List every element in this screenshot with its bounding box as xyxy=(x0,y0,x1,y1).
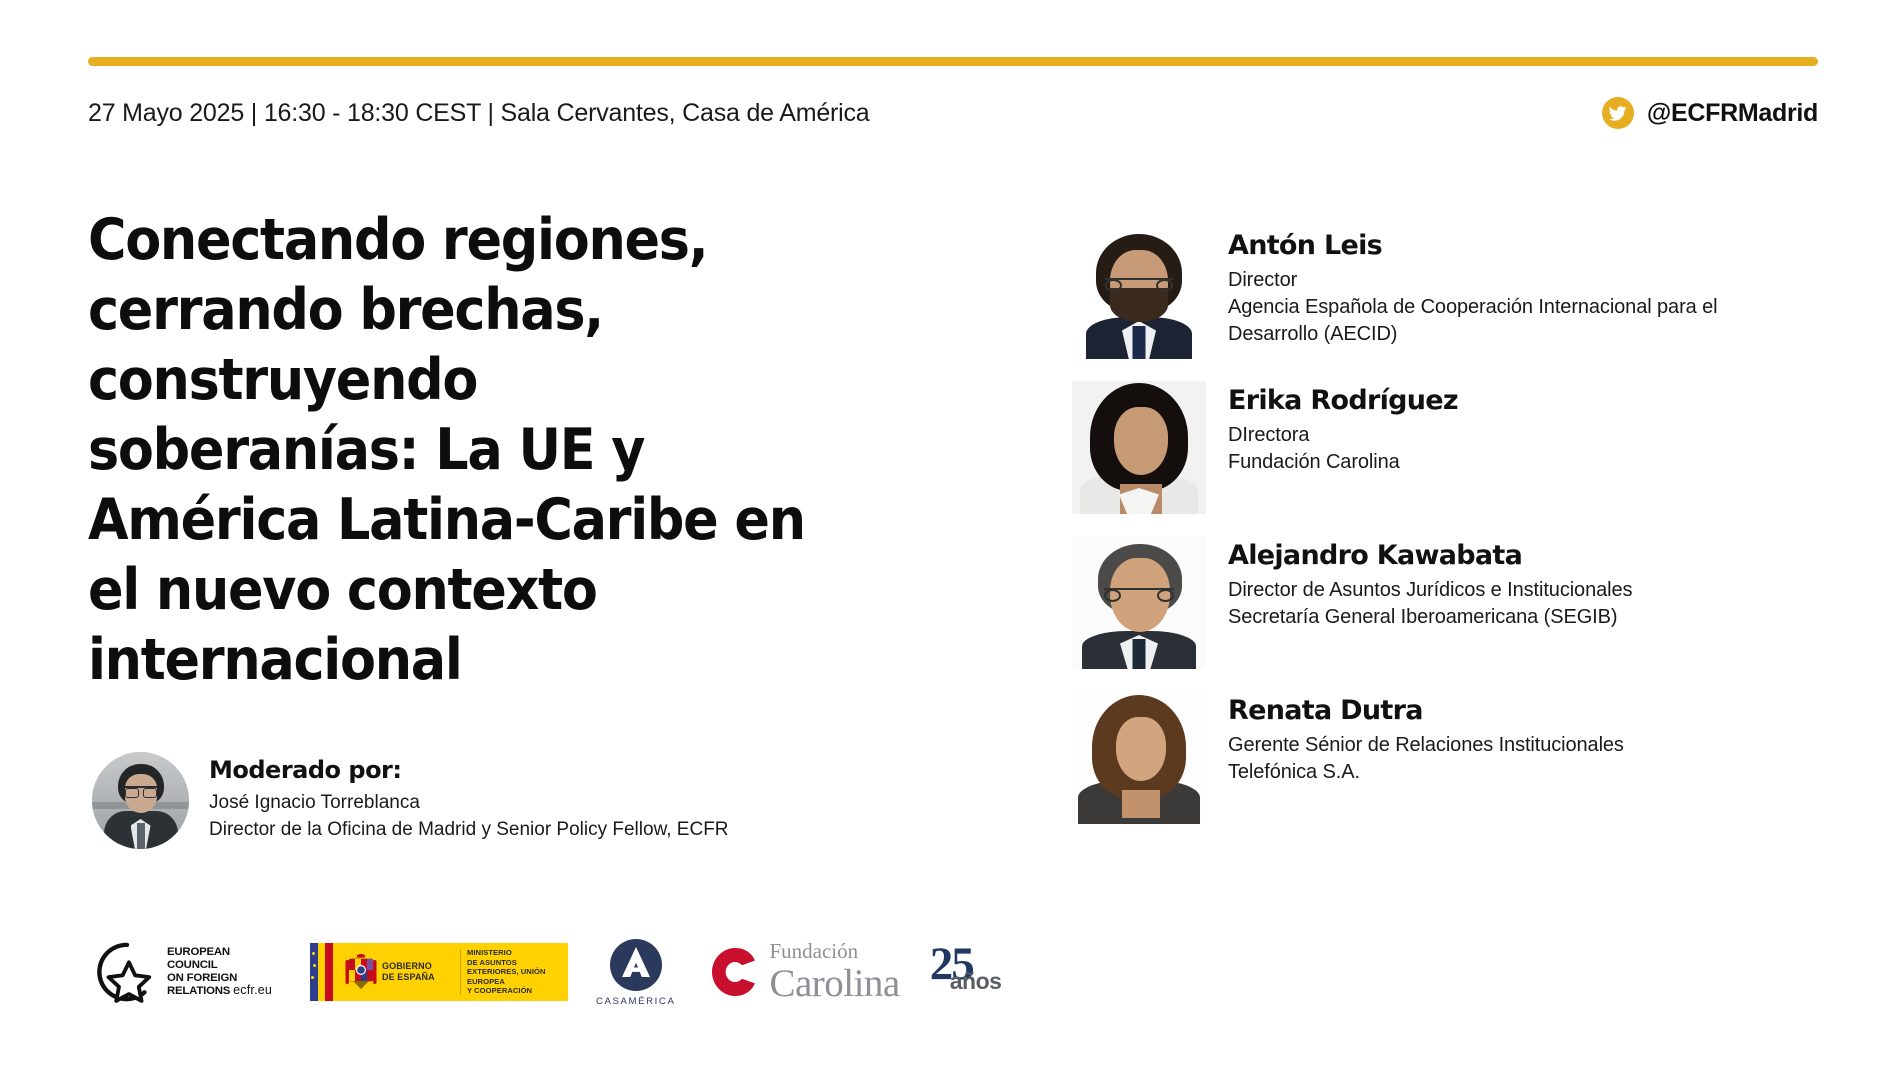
ministerio-line-1: MINISTERIO xyxy=(467,948,512,957)
speaker-org-line-1: Telefónica S.A. xyxy=(1228,759,1624,786)
speaker-card: Alejandro Kawabata Director de Asuntos J… xyxy=(1072,536,1872,669)
speaker-card: Renata Dutra Gerente Sénior de Relacione… xyxy=(1072,691,1872,824)
moderator-name: José Ignacio Torreblanca xyxy=(209,789,729,816)
speaker-name: Renata Dutra xyxy=(1228,695,1624,726)
casa-america-wordmark: CASAMÉRICA xyxy=(596,996,675,1007)
speaker-org-line-1: Secretaría General Iberoamericana (SEGIB… xyxy=(1228,604,1632,631)
page-title: Conectando regiones, cerrando brechas, c… xyxy=(88,205,806,695)
ecfr-line-2: COUNCIL xyxy=(167,959,218,971)
carolina-wordmark: Fundación Carolina xyxy=(769,941,899,1003)
speaker-photo-erika-rodriguez xyxy=(1072,381,1206,514)
speaker-card: Antón Leis Director Agencia Española de … xyxy=(1072,226,1872,359)
speaker-name: Antón Leis xyxy=(1228,230,1718,261)
speaker-photo-anton-leis xyxy=(1072,226,1206,359)
carolina-line-2: Carolina xyxy=(769,964,899,1003)
ecfr-wordmark: EUROPEAN COUNCIL ON FOREIGN RELATIONS ec… xyxy=(167,946,272,997)
speaker-photo-renata-dutra xyxy=(1072,691,1206,824)
ministerio-line-2: DE ASUNTOS EXTERIORES, UNIÓN EUROPEA xyxy=(467,958,546,986)
ecfr-line-1: EUROPEAN xyxy=(167,946,230,958)
twitter-handle-group[interactable]: @ECFRMadrid xyxy=(1602,97,1818,129)
moderator-block: Moderado por: José Ignacio Torreblanca D… xyxy=(92,752,729,849)
carolina-c-icon xyxy=(709,946,757,998)
gobierno-line-2: DE ESPAÑA xyxy=(382,972,435,982)
moderator-heading: Moderado por: xyxy=(209,756,729,784)
speaker-role: Director xyxy=(1228,267,1718,294)
top-accent-bar xyxy=(88,57,1818,66)
speaker-name: Alejandro Kawabata xyxy=(1228,540,1632,571)
casa-america-a-icon xyxy=(609,938,663,992)
moderator-avatar xyxy=(92,752,189,849)
speaker-org-line-1: Agencia Española de Cooperación Internac… xyxy=(1228,294,1718,321)
logo-25-anniversary: 25 años xyxy=(930,941,1008,1003)
ecfr-line-3: ON FOREIGN xyxy=(167,972,237,984)
speakers-list: Antón Leis Director Agencia Española de … xyxy=(1072,226,1872,846)
logo-casa-america: CASAMÉRICA xyxy=(596,938,675,1007)
speaker-role: Gerente Sénior de Relaciones Institucion… xyxy=(1228,732,1624,759)
partner-logo-bar: EUROPEAN COUNCIL ON FOREIGN RELATIONS ec… xyxy=(96,922,1008,1022)
speaker-photo-alejandro-kawabata xyxy=(1072,536,1206,669)
gobierno-wordmark: GOBIERNO DE ESPAÑA xyxy=(382,961,454,983)
anniversary-word: años xyxy=(950,970,1002,993)
ecfr-url: ecfr.eu xyxy=(233,983,272,997)
speaker-card: Erika Rodríguez DIrectora Fundación Caro… xyxy=(1072,381,1872,514)
carolina-line-1: Fundación xyxy=(769,941,899,962)
spain-flag-icon xyxy=(310,943,340,1001)
spain-coat-of-arms-icon xyxy=(340,943,382,1001)
gobierno-line-1: GOBIERNO xyxy=(382,961,432,971)
speaker-role: DIrectora xyxy=(1228,422,1458,449)
ministerio-line-3: Y COOPERACIÓN xyxy=(467,986,532,995)
ecfr-circle-star-icon xyxy=(96,941,158,1003)
header: 27 Mayo 2025 | 16:30 - 18:30 CEST | Sala… xyxy=(88,92,1818,134)
twitter-bird-icon[interactable] xyxy=(1602,97,1634,129)
ministerio-wordmark: MINISTERIO DE ASUNTOS EXTERIORES, UNIÓN … xyxy=(467,948,568,996)
logo-gobierno-de-espana: GOBIERNO DE ESPAÑA MINISTERIO DE ASUNTOS… xyxy=(310,943,568,1001)
moderator-role: Director de la Oficina de Madrid y Senio… xyxy=(209,816,729,843)
logo-ecfr: EUROPEAN COUNCIL ON FOREIGN RELATIONS ec… xyxy=(96,941,256,1003)
ecfr-line-4: RELATIONS xyxy=(167,985,230,997)
speaker-role: Director de Asuntos Jurídicos e Instituc… xyxy=(1228,577,1632,604)
logo-divider xyxy=(460,949,461,995)
speaker-org-line-1: Fundación Carolina xyxy=(1228,449,1458,476)
twitter-handle-label: @ECFRMadrid xyxy=(1647,99,1818,128)
logo-fundacion-carolina: Fundación Carolina xyxy=(709,941,899,1003)
speaker-name: Erika Rodríguez xyxy=(1228,385,1458,416)
speaker-org-line-2: Desarrollo (AECID) xyxy=(1228,321,1718,348)
event-details: 27 Mayo 2025 | 16:30 - 18:30 CEST | Sala… xyxy=(88,99,870,128)
